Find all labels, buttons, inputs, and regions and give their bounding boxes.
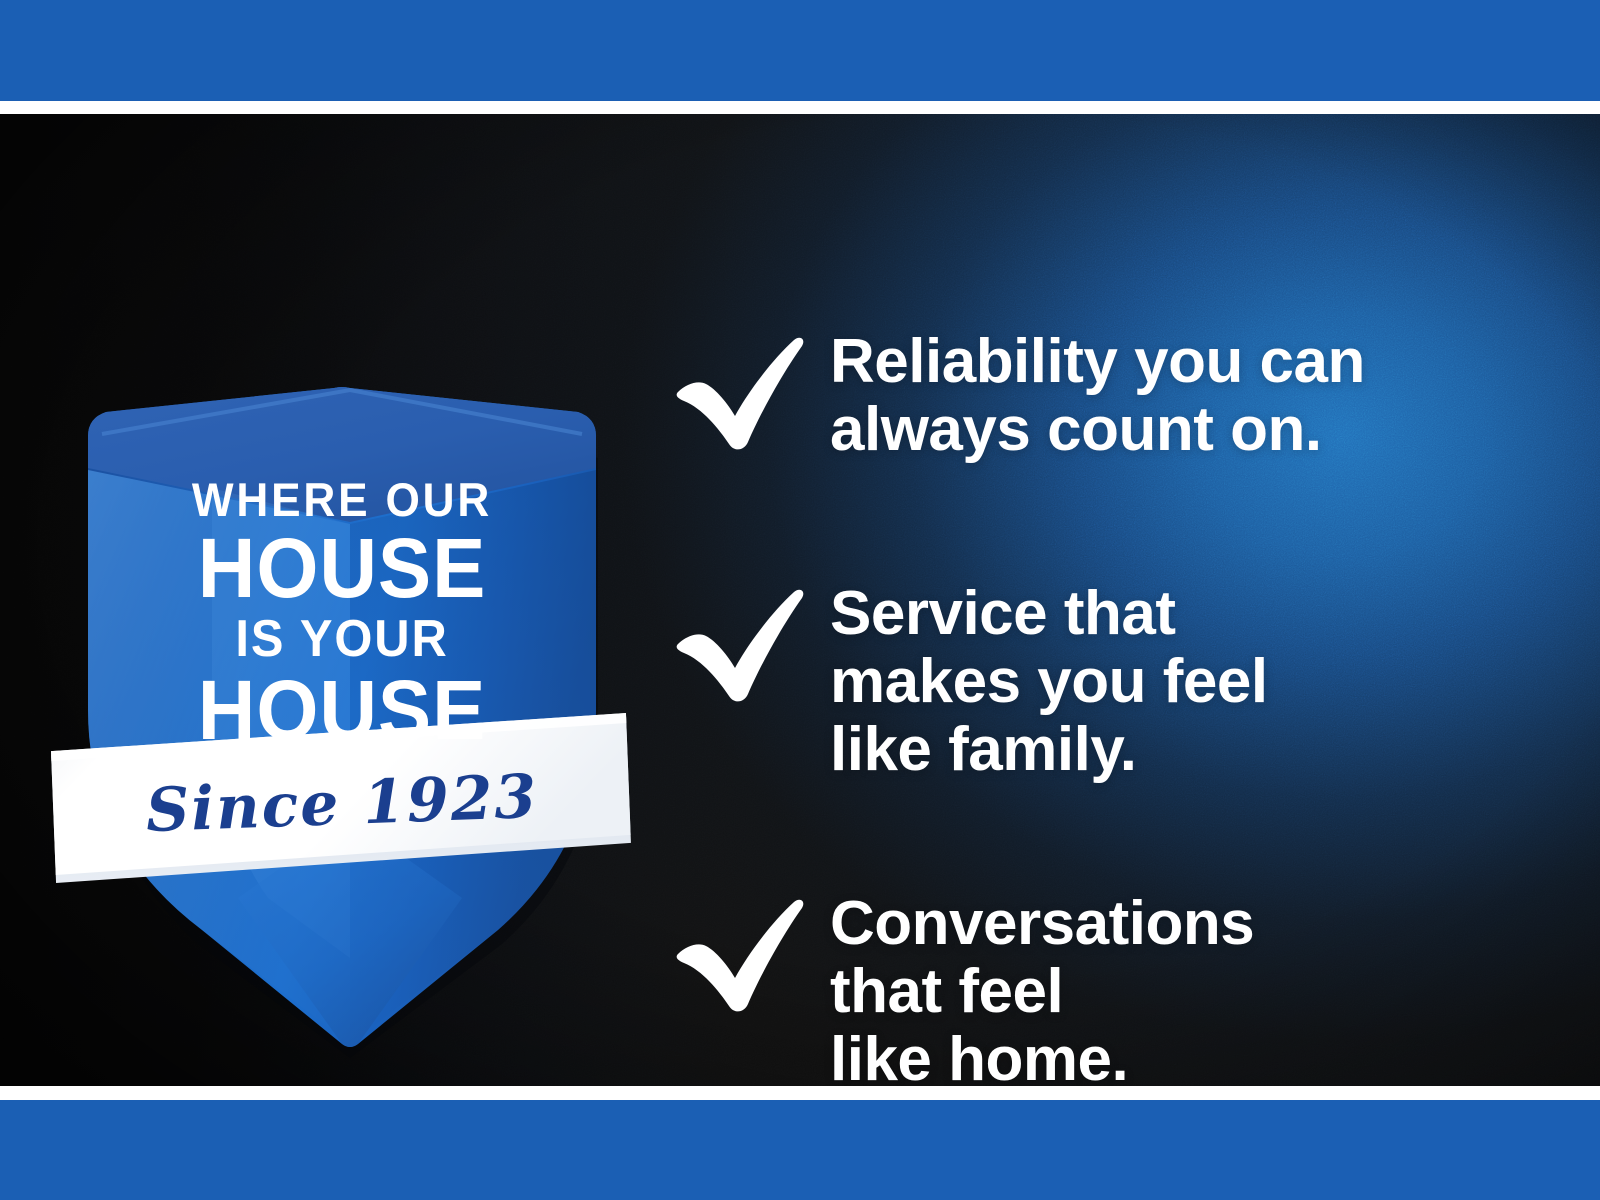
list-item-text: Reliability you can always count on.	[808, 324, 1365, 464]
list-item-line: always count on.	[830, 396, 1365, 464]
benefits-list: Reliability you can always count on. Ser…	[672, 228, 1532, 1086]
list-item-text: Service that makes you feel like family.	[808, 576, 1268, 785]
bottom-white-divider	[0, 1086, 1600, 1100]
list-item-line: that feel	[830, 958, 1254, 1026]
list-item: Conversations that feel like home.	[672, 886, 1254, 1086]
check-icon	[672, 582, 808, 706]
list-item: Reliability you can always count on.	[672, 324, 1365, 464]
list-item: Service that makes you feel like family.	[672, 576, 1268, 785]
promo-graphic: WHERE OUR HOUSE IS YOUR HOUSE Since 1923…	[0, 0, 1600, 1200]
list-item-line: like family.	[830, 716, 1268, 784]
list-item-line: makes you feel	[830, 648, 1268, 716]
top-brand-bar	[0, 0, 1600, 101]
list-item-line: Reliability you can	[830, 328, 1365, 396]
bottom-brand-bar	[0, 1100, 1600, 1200]
check-icon	[672, 330, 808, 454]
shield-badge: WHERE OUR HOUSE IS YOUR HOUSE Since 1923	[62, 258, 622, 1048]
list-item-line: like home.	[830, 1026, 1254, 1086]
list-item-text: Conversations that feel like home.	[808, 886, 1254, 1086]
check-icon	[672, 892, 808, 1016]
list-item-line: Service that	[830, 580, 1268, 648]
list-item-line: Conversations	[830, 890, 1254, 958]
top-white-divider	[0, 101, 1600, 114]
hero-stage: WHERE OUR HOUSE IS YOUR HOUSE Since 1923…	[0, 114, 1600, 1086]
